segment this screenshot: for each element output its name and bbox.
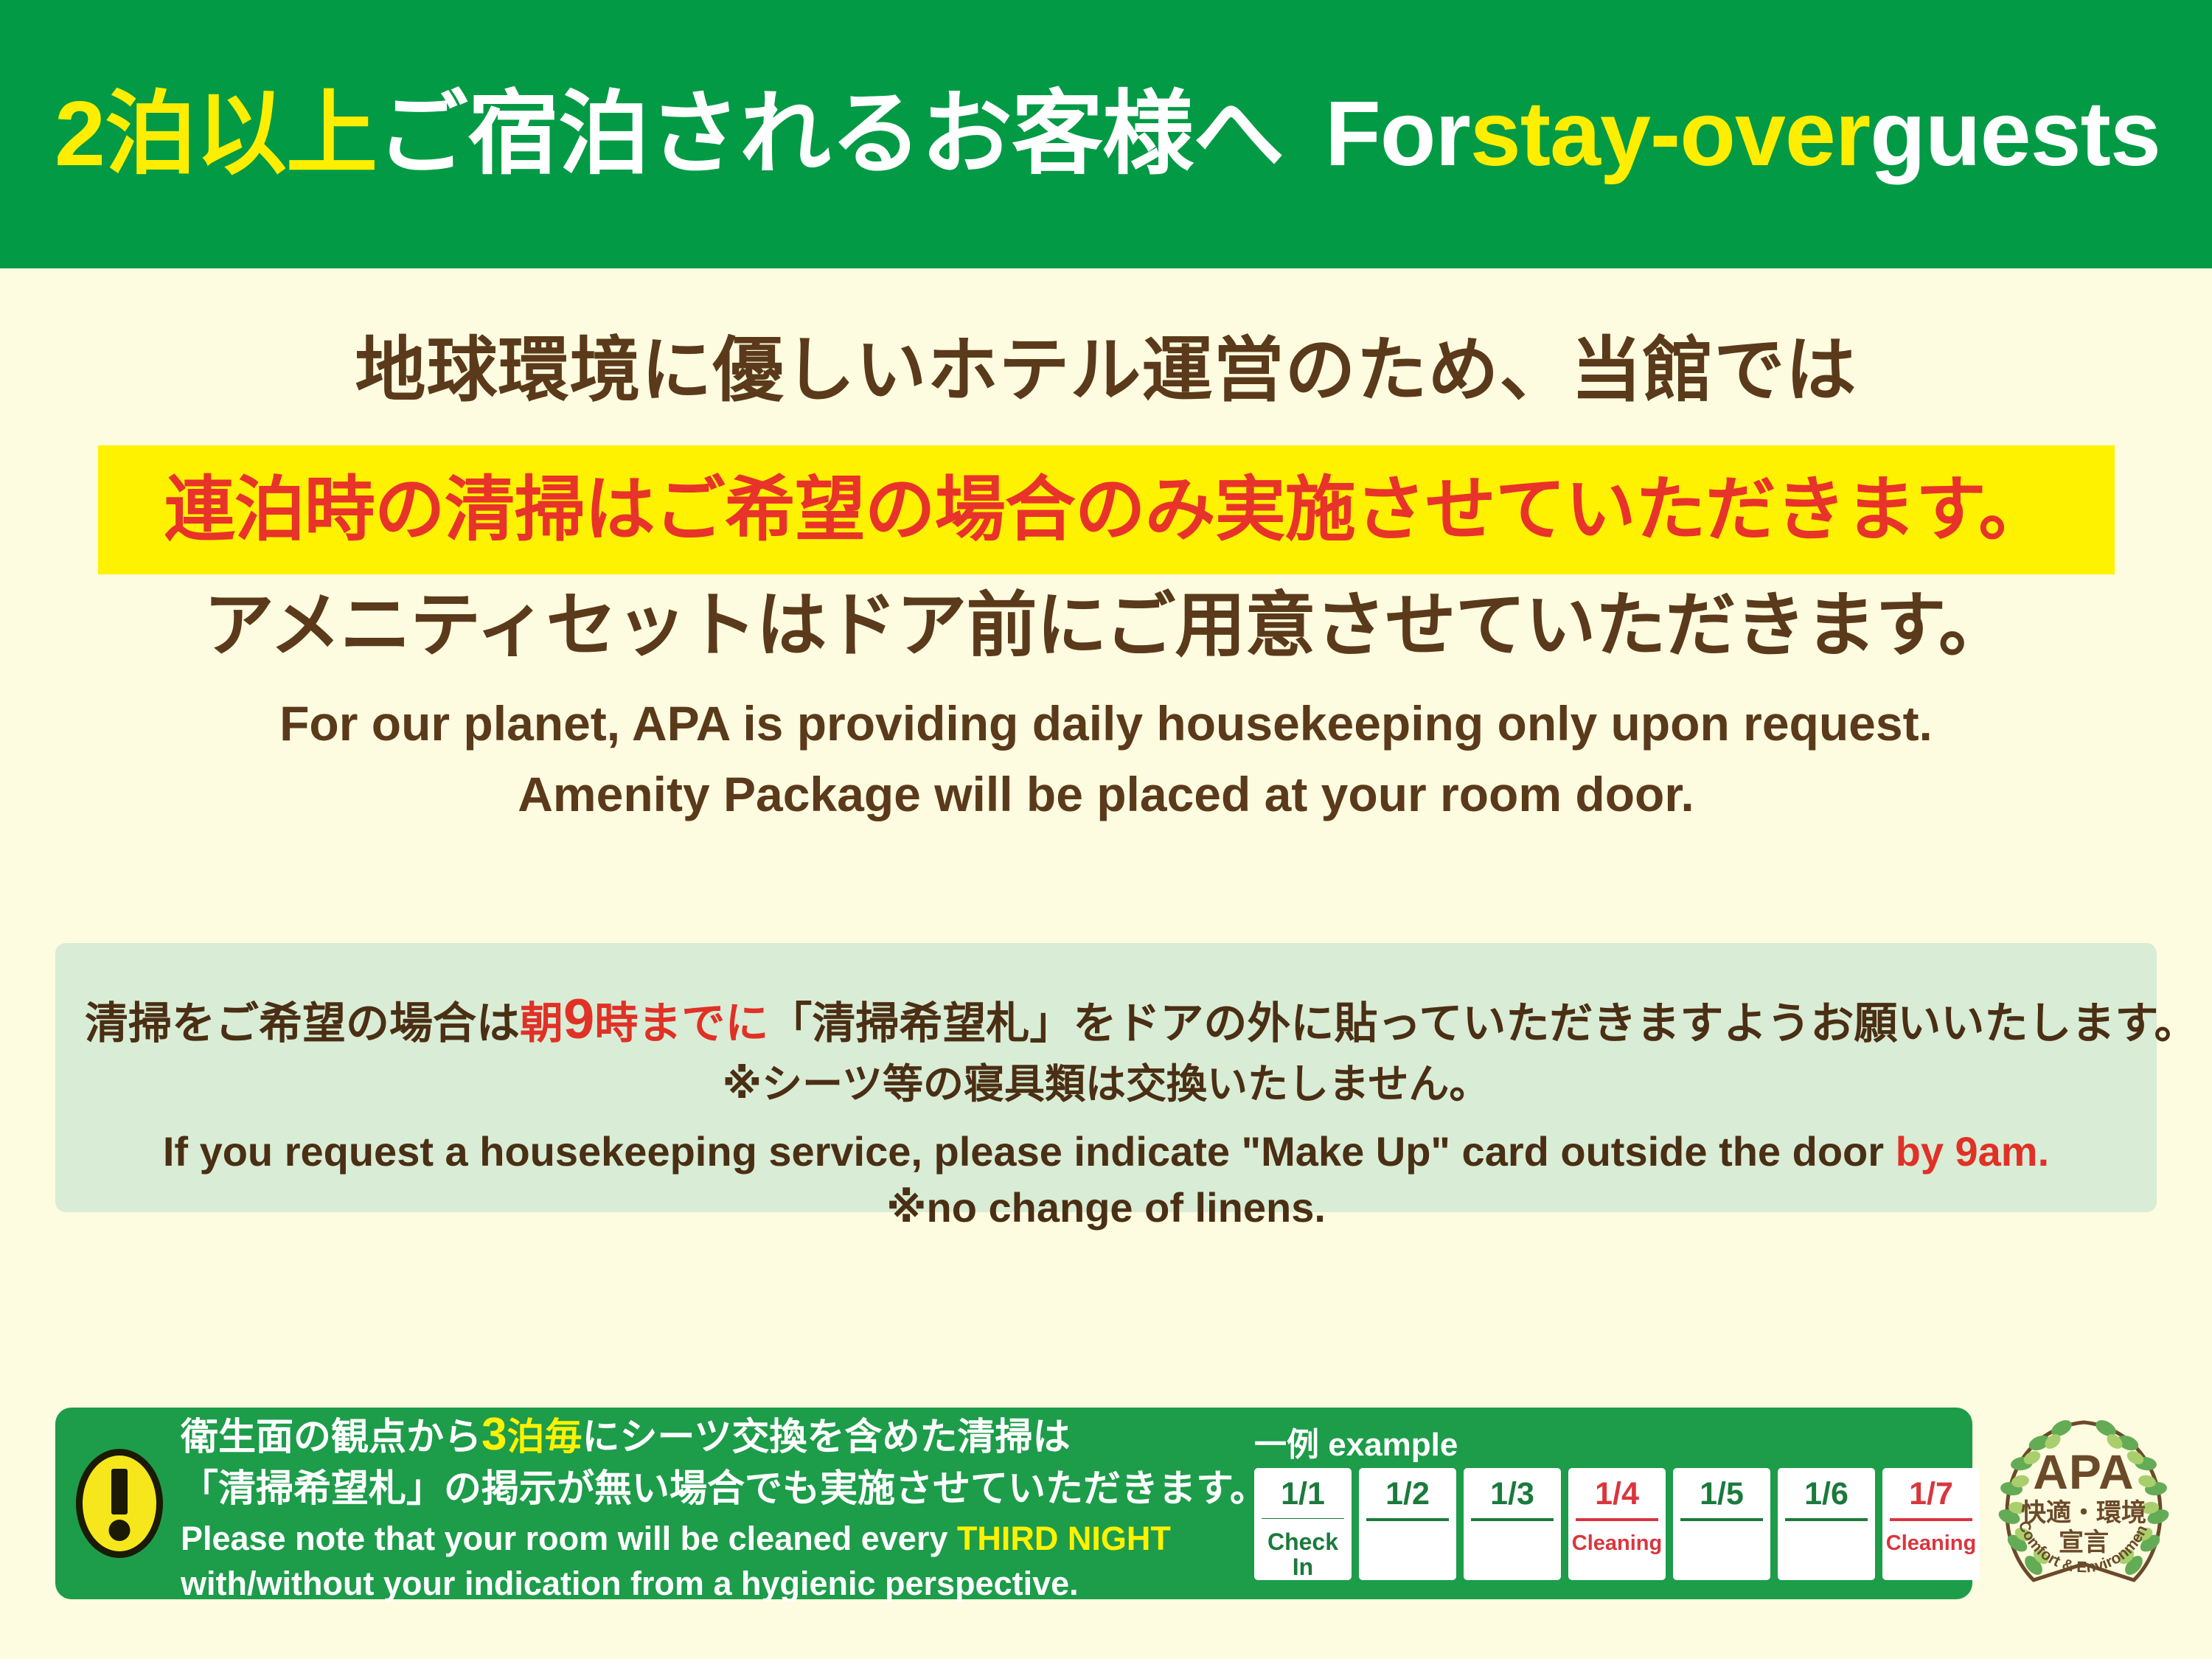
info-en-hot: by 9am. <box>1896 1128 2050 1175</box>
info-en-pre: If you request a housekeeping service, p… <box>163 1128 1896 1175</box>
green-jp-highlight-rest: 泊毎 <box>507 1416 582 1458</box>
body-area: 地球環境に優しいホテル運営のため、当館では 連泊時の清掃はご希望の場合のみ実施さ… <box>0 268 2212 1659</box>
svg-text:宣言: 宣言 <box>2059 1528 2109 1557</box>
calendar-cell-divider <box>1680 1518 1763 1521</box>
header-title-en-highlight: stay-over <box>1470 88 1870 180</box>
main-jp-headline: 地球環境に優しいホテル運営のため、当館では <box>0 331 2212 411</box>
green-en-pre: Please note that your room will be clean… <box>181 1520 957 1557</box>
highlight-band: 連泊時の清掃はご希望の場合のみ実施させていただきます。 <box>98 445 2115 574</box>
calendar-cell: 1/5 <box>1673 1468 1770 1580</box>
warning-icon-wrap <box>76 1449 163 1558</box>
header-title-en-pre: For <box>1325 88 1470 180</box>
calendar-cell-date: 1/2 <box>1385 1468 1430 1518</box>
svg-text:快適・環境: 快適・環境 <box>2021 1498 2146 1528</box>
header-title-en-post: guests <box>1870 88 2160 180</box>
calendar-cell-date: 1/3 <box>1490 1468 1534 1518</box>
calendar-title: 一例 example <box>1254 1429 1980 1461</box>
calendar-cell: 1/2 <box>1359 1468 1456 1580</box>
exclamation-warning-icon <box>76 1449 163 1558</box>
calendar-cell-divider <box>1785 1518 1868 1521</box>
green-en-line-2: with/without your indication from a hygi… <box>181 1564 1242 1604</box>
calendar-cell: 1/1CheckIn <box>1254 1468 1352 1580</box>
info-jp-hot-b: 時までに <box>594 999 768 1048</box>
calendar-cell: 1/7Cleaning <box>1882 1468 1980 1580</box>
main-en-line-2: Amenity Package will be placed at your r… <box>0 759 2212 830</box>
green-jp-highlight-number: 3 <box>481 1409 507 1460</box>
example-calendar: 一例 example 1/1CheckIn1/21/31/4Cleaning1/… <box>1254 1427 1980 1580</box>
green-en-line-1: Please note that your room will be clean… <box>181 1519 1242 1559</box>
calendar-cell-label: CheckIn <box>1267 1519 1338 1579</box>
third-night-cleaning-box: 衛生面の観点から3泊毎にシーツ交換を含めた清掃は 「清掃希望札」の掲示が無い場合… <box>55 1408 1972 1599</box>
green-jp-line-2: 「清掃希望札」の掲示が無い場合でも実施させていただきます。 <box>181 1464 1242 1513</box>
info-en-note: ※no change of linens. <box>85 1182 2127 1234</box>
calendar-cell-divider <box>1366 1518 1449 1521</box>
info-jp-hot-number: 9 <box>563 988 594 1051</box>
green-en-highlight: THIRD NIGHT <box>957 1520 1171 1557</box>
calendar-cell-date: 1/7 <box>1909 1468 1953 1518</box>
info-jp-line-1: 清掃をご希望の場合は朝9時までに「清掃希望札」をドアの外に貼っていただきますよう… <box>85 984 2127 1054</box>
poster-root: 2泊以上ご宿泊されるお客様へ For stay-over guests 地球環境… <box>0 0 2212 1659</box>
svg-text:APA: APA <box>2033 1444 2134 1499</box>
main-en-block: For our planet, APA is providing daily h… <box>0 689 2212 829</box>
calendar-grid: 1/1CheckIn1/21/31/4Cleaning1/51/61/7Clea… <box>1254 1468 1980 1580</box>
green-jp-post: にシーツ交換を含めた清掃は <box>582 1416 1071 1458</box>
info-en-line-1: If you request a housekeeping service, p… <box>85 1126 2127 1178</box>
info-jp-note: ※シーツ等の寝具類は交換いたしません。 <box>85 1059 2127 1110</box>
calendar-cell: 1/6 <box>1778 1468 1875 1580</box>
main-en-line-1: For our planet, APA is providing daily h… <box>0 689 2212 759</box>
calendar-cell-divider <box>1471 1518 1554 1521</box>
calendar-cell-date: 1/5 <box>1700 1468 1744 1518</box>
green-jp-line-1: 衛生面の観点から3泊毎にシーツ交換を含めた清掃は <box>181 1405 1242 1465</box>
calendar-cell: 1/4Cleaning <box>1568 1468 1666 1580</box>
header-title: 2泊以上ご宿泊されるお客様へ For stay-over guests <box>55 88 2160 180</box>
info-jp-post: 「清掃希望札」をドアの外に貼っていただきますようお願いいたします。 <box>768 999 2197 1048</box>
green-jp-pre: 衛生面の観点から <box>181 1416 481 1458</box>
calendar-cell-date: 1/4 <box>1595 1468 1639 1518</box>
header-banner: 2泊以上ご宿泊されるお客様へ For stay-over guests <box>0 0 2212 268</box>
calendar-cell-date: 1/6 <box>1804 1468 1848 1518</box>
header-title-jp-yellow: 2泊以上 <box>55 88 377 180</box>
green-box-text-column: 衛生面の観点から3泊毎にシーツ交換を含めた清掃は 「清掃希望札」の掲示が無い場合… <box>181 1402 1242 1605</box>
calendar-cell: 1/3 <box>1464 1468 1561 1580</box>
main-jp-subline: アメニティセットはドア前にご用意させていただきます。 <box>0 587 2212 665</box>
calendar-cell-label: Cleaning <box>1572 1521 1662 1554</box>
header-title-jp-white: ご宿泊されるお客様へ <box>377 88 1284 180</box>
info-jp-pre: 清掃をご希望の場合は <box>85 999 520 1048</box>
calendar-cell-date: 1/1 <box>1281 1468 1325 1518</box>
info-jp-hot-a: 朝 <box>520 999 563 1048</box>
apa-comfort-environment-logo: APA 快適・環境 宣言 Comfort & Environment <box>1985 1409 2183 1599</box>
calendar-cell-label: Cleaning <box>1886 1521 1976 1554</box>
highlight-band-text: 連泊時の清掃はご希望の場合のみ実施させていただきます。 <box>164 475 2048 546</box>
housekeeping-request-info-box: 清掃をご希望の場合は朝9時までに「清掃希望札」をドアの外に貼っていただきますよう… <box>55 943 2157 1212</box>
